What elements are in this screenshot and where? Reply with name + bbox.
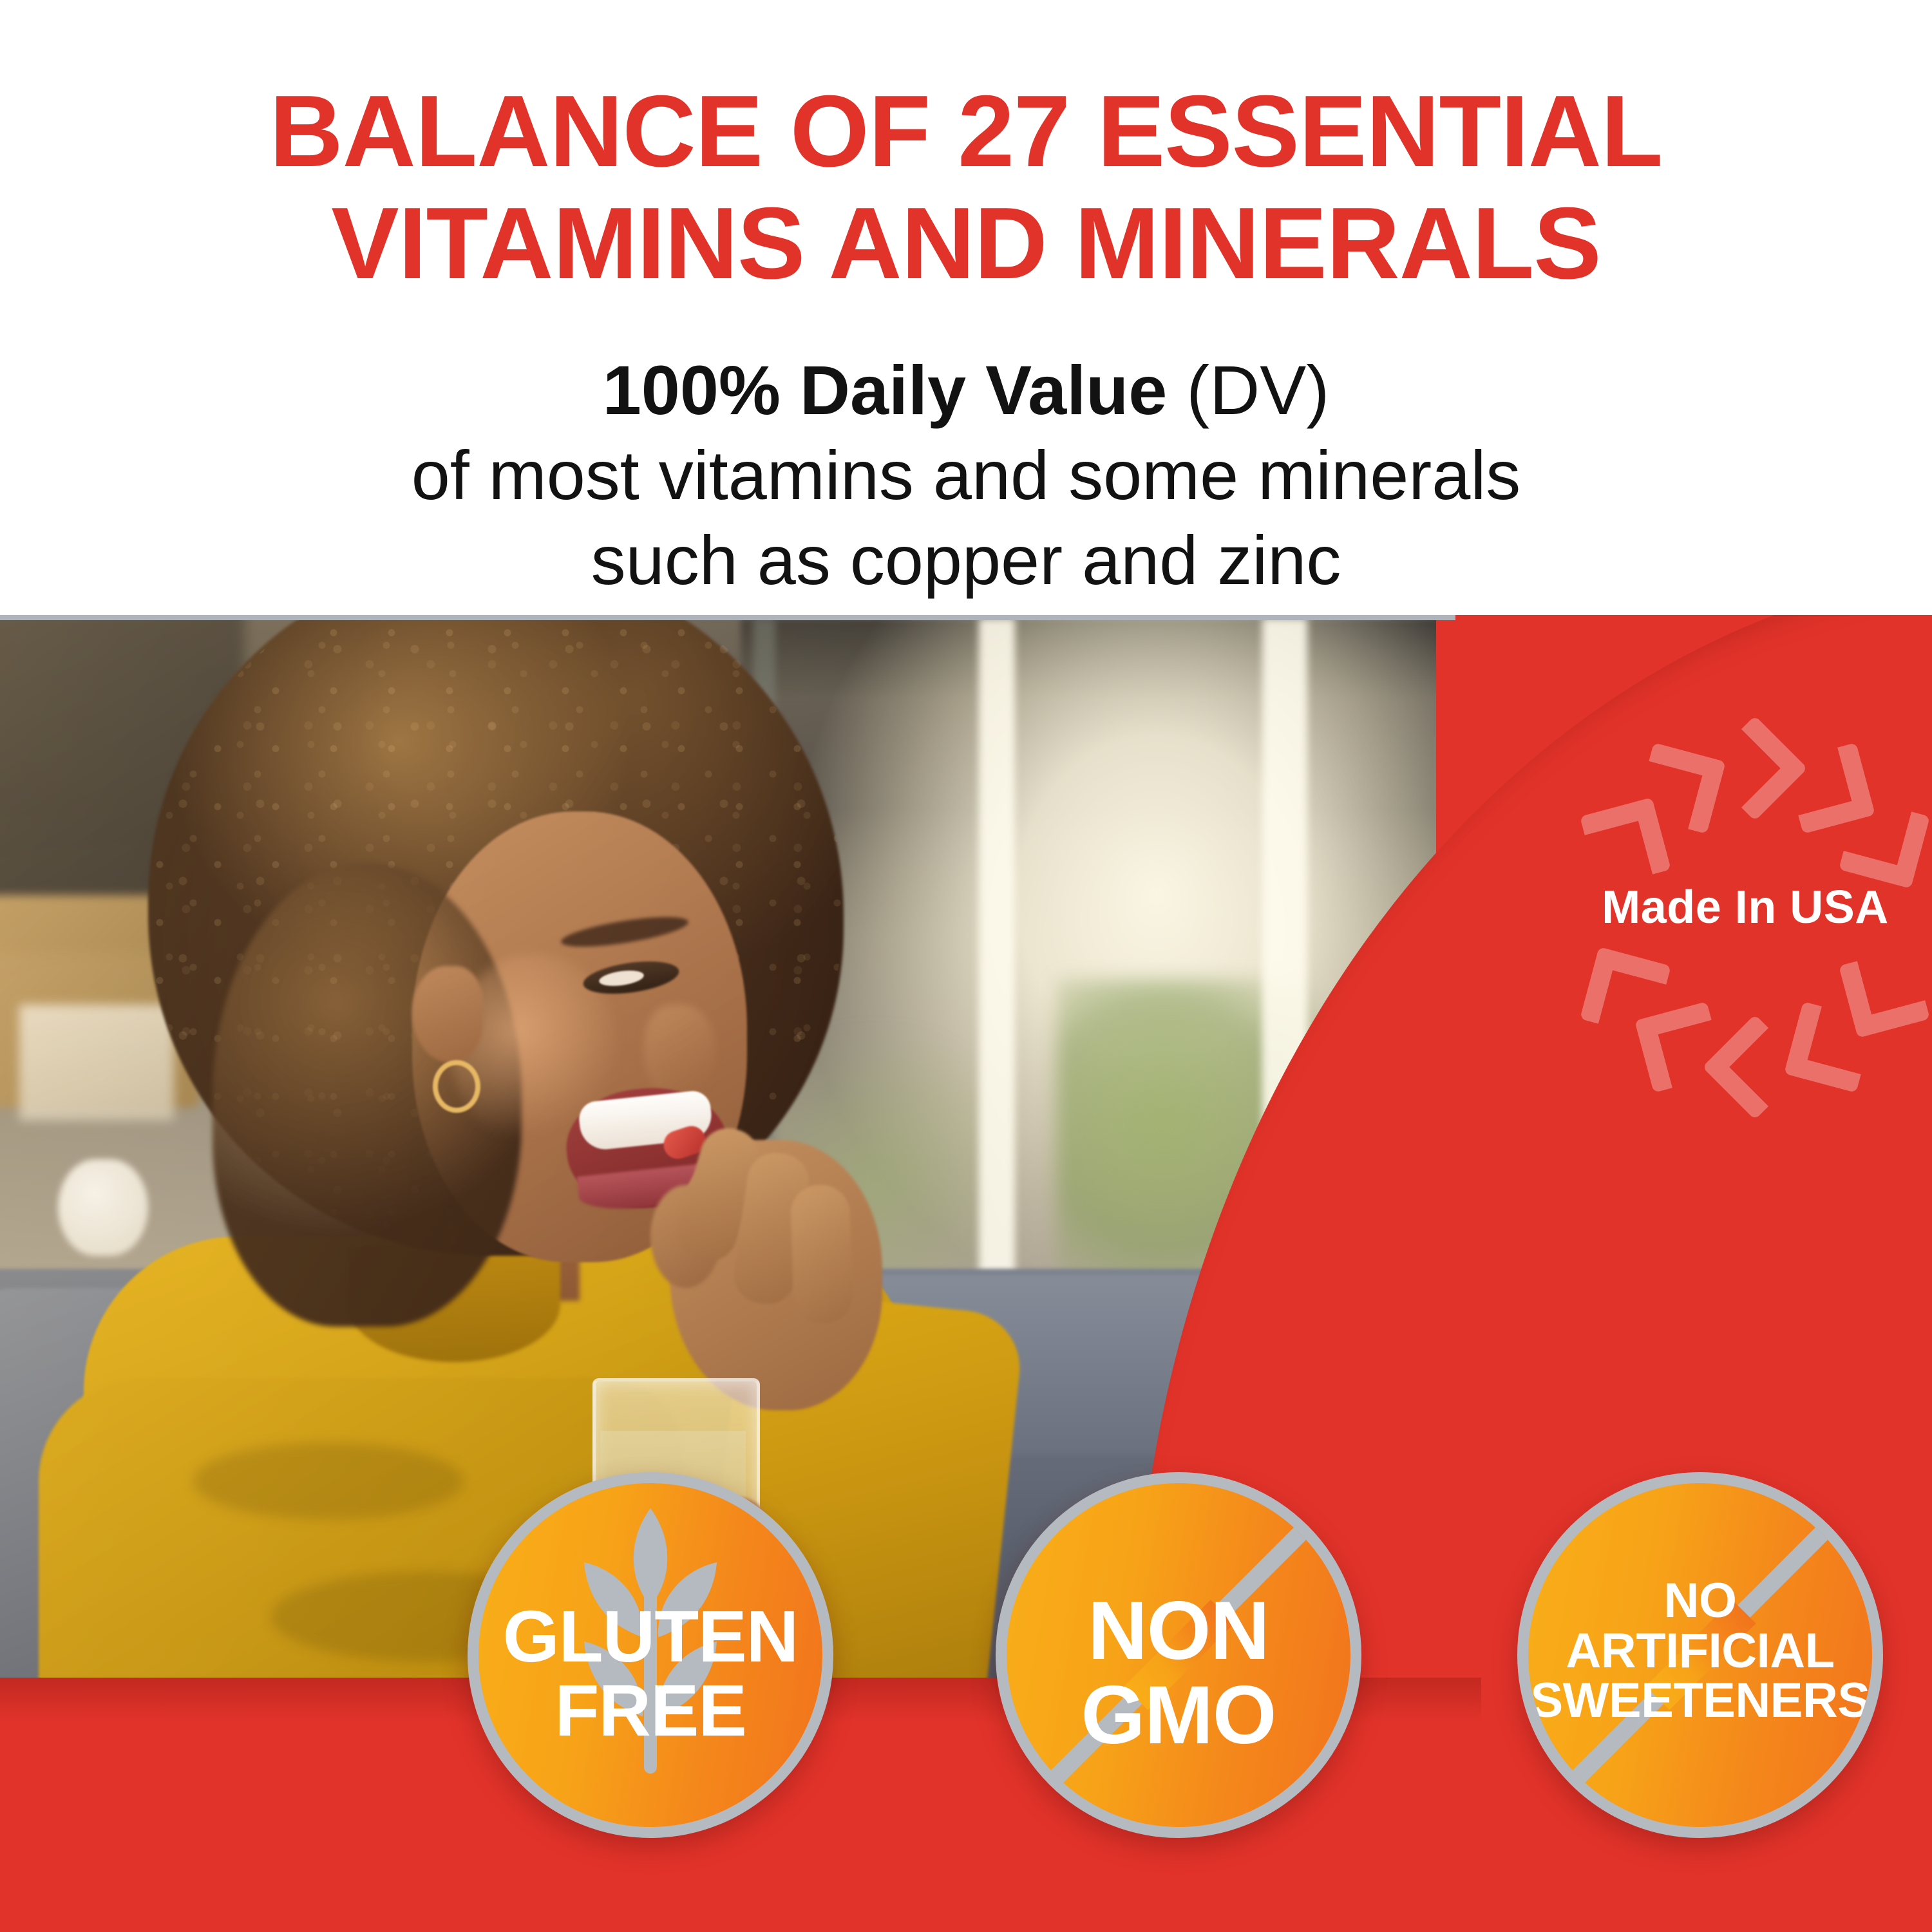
badge-line-1: NO	[1528, 1576, 1872, 1626]
promo-banner: BALANCE OF 27 ESSENTIAL VITAMINS AND MIN…	[0, 0, 1932, 1932]
daily-value-abbrev: (DV)	[1167, 351, 1329, 429]
daily-value-bold: 100% Daily Value	[603, 351, 1168, 429]
badge-line-2: FREE	[478, 1674, 822, 1748]
subheading-line-3: such as copper and zinc	[0, 518, 1932, 603]
badge-label-no-artificial-sweeteners: NO ARTIFICIAL SWEETENERS	[1528, 1576, 1872, 1726]
badge-label-non-gmo: NON GMO	[1007, 1589, 1350, 1757]
badge-label-gluten-free: GLUTEN FREE	[478, 1600, 822, 1748]
made-in-usa-badge: Made In USA	[1558, 708, 1932, 1108]
badge-gluten-free: GLUTEN FREE	[468, 1472, 833, 1838]
badge-line-3: SWEETENERS	[1528, 1676, 1872, 1726]
subheading-line-2: of most vitamins and some minerals	[0, 433, 1932, 518]
badge-line-2: GMO	[1007, 1674, 1350, 1758]
badge-no-artificial-sweeteners: NO ARTIFICIAL SWEETENERS	[1517, 1472, 1883, 1838]
headline-line-2: VITAMINS AND MINERALS	[0, 188, 1932, 300]
badge-line-2: ARTIFICIAL	[1528, 1626, 1872, 1676]
page-title: BALANCE OF 27 ESSENTIAL VITAMINS AND MIN…	[0, 76, 1932, 300]
subheading: 100% Daily Value (DV) of most vitamins a…	[0, 348, 1932, 602]
made-in-usa-label: Made In USA	[1558, 881, 1932, 934]
badge-line-1: GLUTEN	[478, 1600, 822, 1674]
subheading-line-1: 100% Daily Value (DV)	[0, 348, 1932, 433]
badge-non-gmo: NON GMO	[996, 1472, 1361, 1838]
headline-line-1: BALANCE OF 27 ESSENTIAL	[270, 75, 1663, 188]
badge-line-1: NON	[1007, 1589, 1350, 1674]
